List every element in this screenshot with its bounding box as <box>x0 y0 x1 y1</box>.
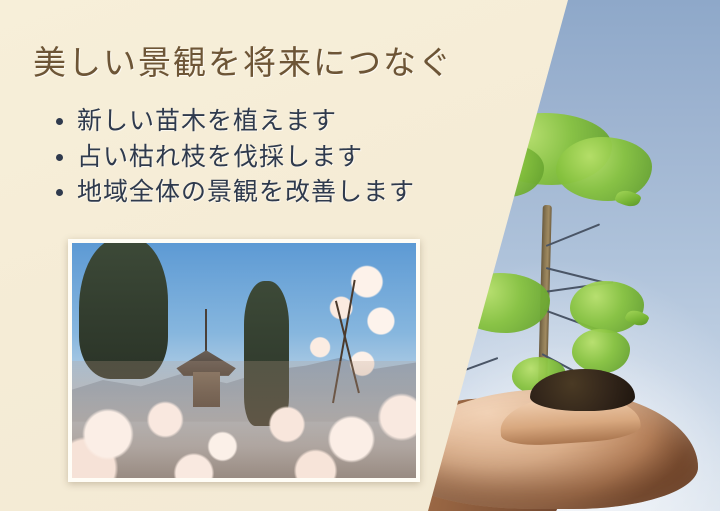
cedar-tree-left <box>79 243 168 379</box>
list-item-label: 地域全体の景観を改善します <box>77 175 415 211</box>
bullet-dot-icon <box>56 189 63 196</box>
bullet-dot-icon <box>56 154 63 161</box>
list-item-label: 占い枯れ枝を伐採します <box>77 140 363 176</box>
list-item: 地域全体の景観を改善します <box>56 175 415 211</box>
sapling-branch <box>546 223 601 247</box>
page-title: 美しい景観を将来につなぐ <box>33 36 453 84</box>
list-item-label: 新しい苗木を植えます <box>77 104 337 140</box>
plum-blossom-field <box>72 361 416 479</box>
plum-blossom-orchard-photo <box>72 243 416 478</box>
list-item: 新しい苗木を植えます <box>56 104 415 140</box>
sapling-leaf-cluster <box>556 137 652 201</box>
bullet-dot-icon <box>56 118 63 125</box>
soil-root-ball <box>530 369 635 411</box>
slide-canvas: 美しい景観を将来につなぐ 新しい苗木を植えます 占い枯れ枝を伐採します 地域全体… <box>0 0 720 511</box>
list-item: 占い枯れ枝を伐採します <box>56 140 415 176</box>
bullet-list: 新しい苗木を植えます 占い枯れ枝を伐採します 地域全体の景観を改善します <box>56 104 415 211</box>
pagoda-spire <box>205 309 207 353</box>
inset-photo-frame <box>68 239 420 482</box>
